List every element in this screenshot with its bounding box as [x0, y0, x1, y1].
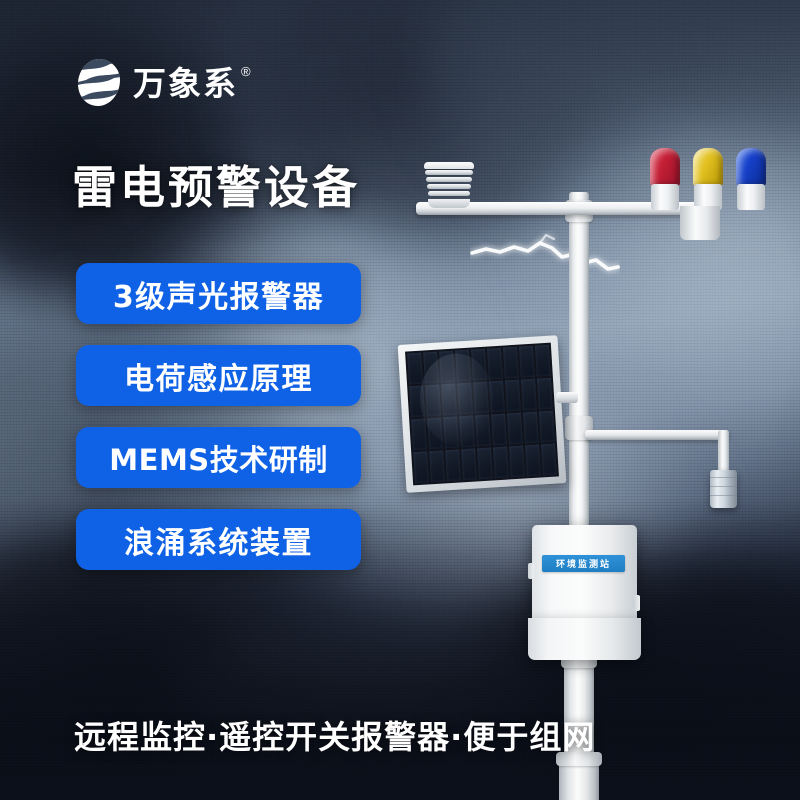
solar-cell [459, 416, 475, 448]
solar-cell [487, 348, 503, 380]
page-title: 雷电预警设备 [72, 165, 360, 210]
solar-cell [471, 349, 487, 381]
solar-cell [519, 346, 535, 378]
solar-cell [425, 385, 441, 417]
solar-cell [491, 414, 507, 446]
solar-cell [473, 382, 489, 414]
feature-pill-surge[interactable]: 浪涌系统装置 [76, 509, 361, 570]
solar-cell [429, 450, 445, 482]
solar-cell [413, 451, 429, 483]
brand-name: 万象系 [133, 67, 238, 100]
solar-cell [541, 444, 557, 476]
solar-cell [525, 445, 541, 477]
alarm-lamp-red [650, 148, 680, 210]
alarm-lamp-mount [680, 206, 720, 240]
solar-cell [521, 379, 537, 411]
solar-cell [445, 449, 461, 481]
feature-pill-list: 3级声光报警器 电荷感应原理 MEMS技术研制 浪涌系统装置 [76, 263, 361, 570]
solar-cell [537, 378, 553, 410]
cylinder-sensor [710, 470, 737, 508]
solar-cell [439, 351, 455, 383]
alarm-lamp-blue [736, 148, 766, 210]
poster-canvas: 环境监测站 万象系 ® 雷电预警设备 [0, 0, 800, 800]
solar-cell [477, 448, 493, 480]
feature-pill-charge[interactable]: 电荷感应原理 [76, 345, 361, 406]
radiation-shield-icon [422, 162, 476, 208]
solar-cell [489, 381, 505, 413]
solar-cell [523, 412, 539, 444]
solar-cell [505, 380, 521, 412]
solar-cell [503, 347, 519, 379]
solar-cell [535, 345, 551, 377]
feature-pill-alarm[interactable]: 3级声光报警器 [76, 263, 361, 324]
solar-cell [409, 386, 425, 418]
solar-panel-strut [556, 392, 578, 403]
feature-pill-mems[interactable]: MEMS技术研制 [76, 427, 361, 488]
control-box-latch-right [634, 595, 640, 611]
control-box-latch-left [528, 563, 534, 579]
alarm-lamp-yellow [693, 148, 723, 210]
solar-cell [427, 418, 443, 450]
tagline: 远程监控·遥控开关报警器·便于组网 [74, 712, 595, 758]
solar-cell [443, 417, 459, 449]
brand-logo: 万象系 ® [76, 58, 259, 108]
solar-cell [457, 383, 473, 415]
solar-cell [509, 446, 525, 478]
solar-cell [539, 411, 555, 443]
solar-cell [411, 418, 427, 450]
control-box-lower [528, 618, 641, 660]
sensor-arm-horizontal [585, 430, 729, 440]
solar-cell [475, 415, 491, 447]
solar-cell [423, 352, 439, 384]
solar-cell [461, 448, 477, 480]
solar-cell [493, 447, 509, 479]
weather-station-product: 环境监测站 [380, 140, 800, 800]
brand-swirl-icon [76, 58, 122, 108]
control-box-label: 环境监测站 [542, 555, 625, 572]
solar-cell [441, 384, 457, 416]
solar-cell [507, 413, 523, 445]
solar-cell [407, 353, 423, 385]
three-stage-alarm-lamps [650, 148, 778, 210]
solar-panel [398, 335, 567, 492]
control-box [532, 525, 637, 625]
solar-cell [455, 350, 471, 382]
trademark-symbol: ® [241, 64, 251, 79]
